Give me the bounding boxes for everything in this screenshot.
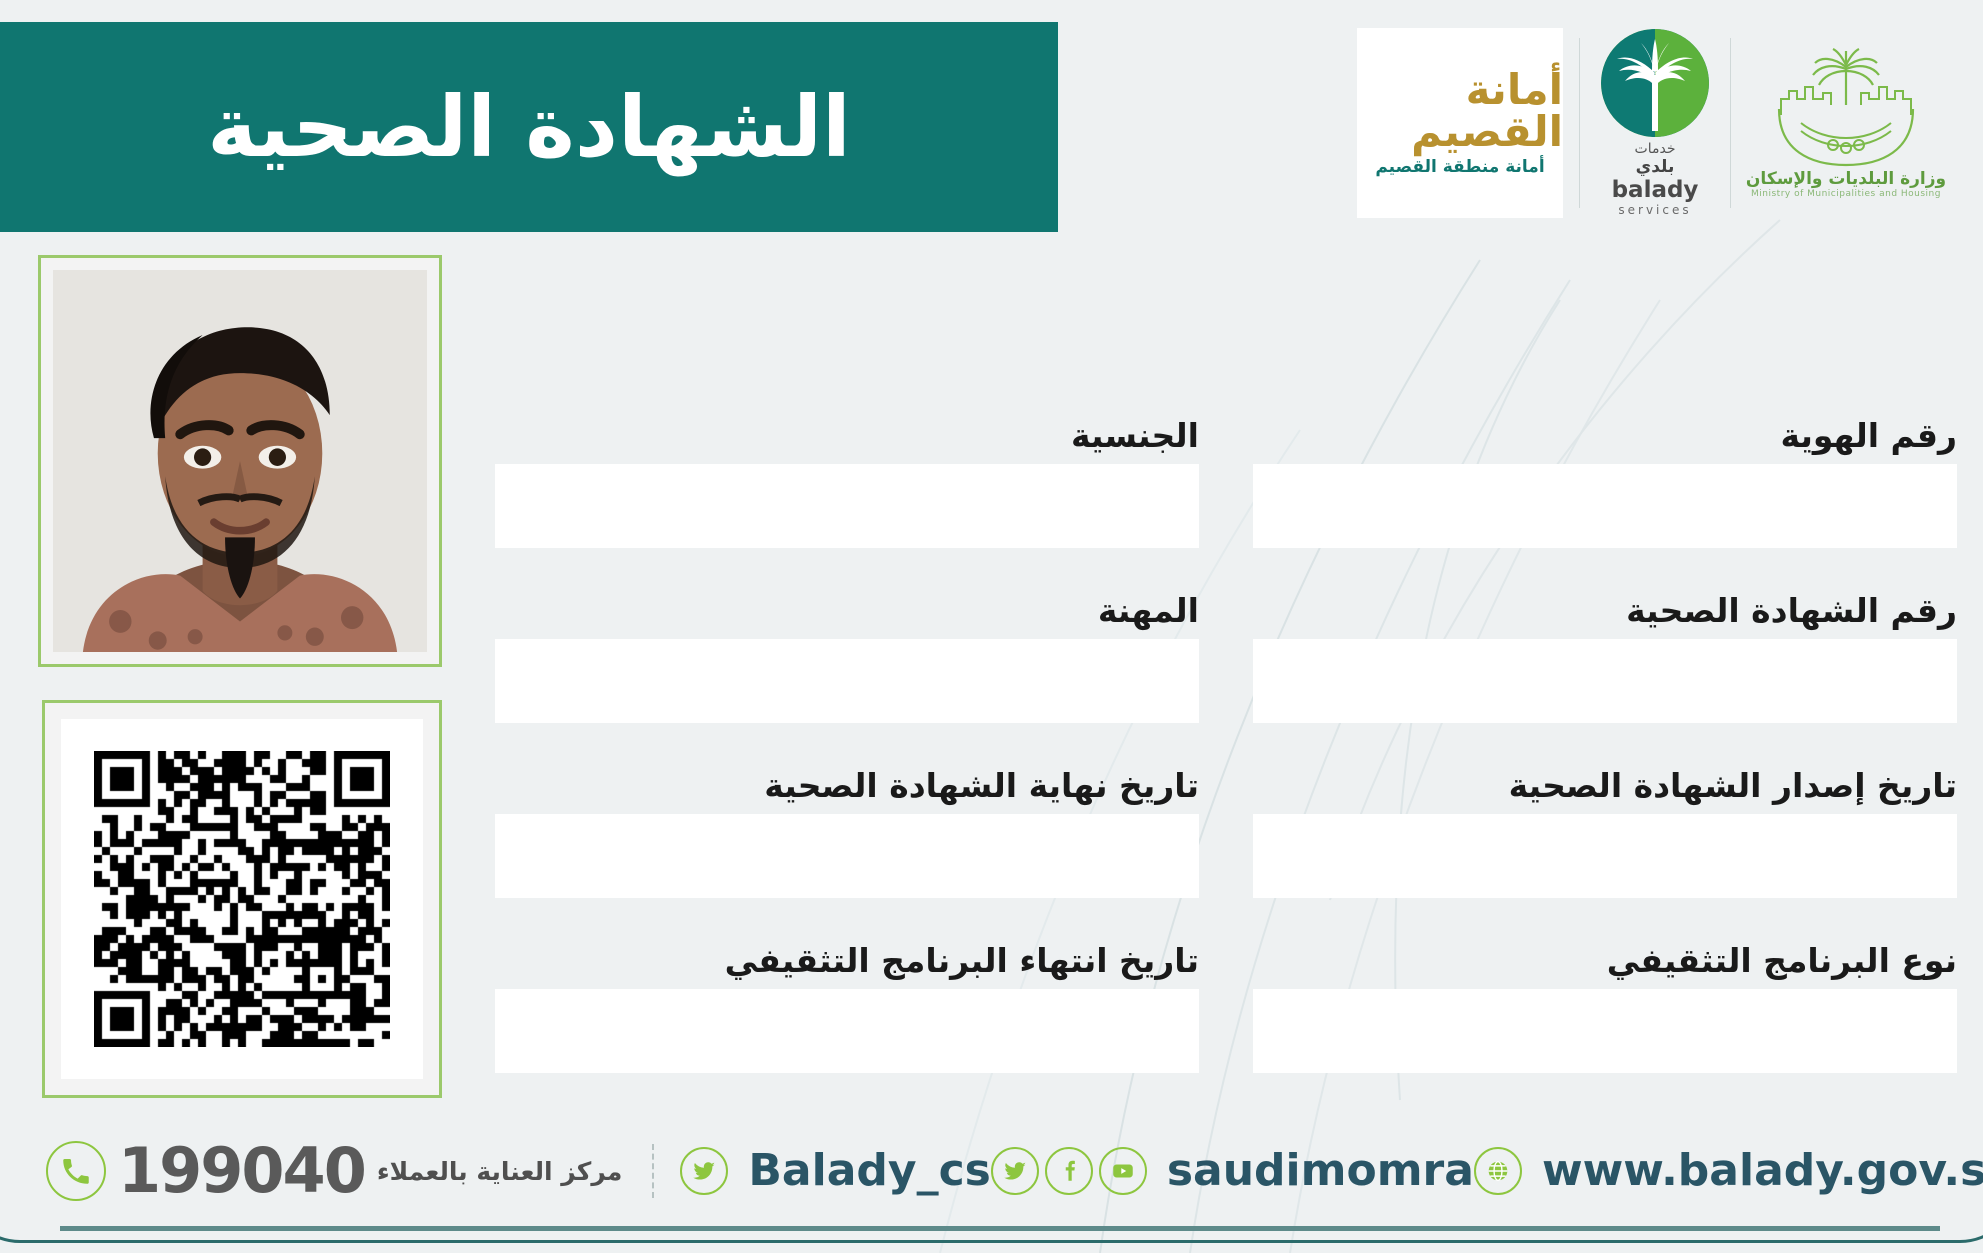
ministry-logo-icon bbox=[1771, 47, 1921, 167]
balady-arabic-top: خدمات bbox=[1635, 141, 1676, 157]
social-icons[interactable] bbox=[991, 1147, 1147, 1195]
footer-separator-1 bbox=[652, 1144, 654, 1198]
field-value-educational-program-type[interactable] bbox=[1253, 989, 1957, 1073]
footer-social-group[interactable]: saudimomra bbox=[991, 1147, 1474, 1195]
balady-english-sub: services bbox=[1618, 203, 1691, 217]
field-occupation: المهنة bbox=[495, 593, 1199, 768]
field-nationality: الجنسية bbox=[495, 418, 1199, 593]
field-certificate-issue-date: تاريخ إصدار الشهادة الصحية bbox=[1253, 768, 1957, 943]
qr-code[interactable] bbox=[61, 719, 423, 1079]
globe-icon[interactable] bbox=[1474, 1147, 1522, 1195]
field-certificate-end-date: تاريخ نهاية الشهادة الصحية bbox=[495, 768, 1199, 943]
twitter-icon[interactable] bbox=[680, 1147, 728, 1195]
qassim-logo-tile: أمانة القصيم أمانة منطقة القصيم bbox=[1357, 28, 1563, 218]
customer-care-label: مركز العناية بالعملاء bbox=[377, 1157, 623, 1186]
holder-photo bbox=[53, 270, 427, 652]
field-value-certificate-issue-date[interactable] bbox=[1253, 814, 1957, 898]
field-value-nationality[interactable] bbox=[495, 464, 1199, 548]
field-label-occupation: المهنة bbox=[495, 593, 1199, 639]
field-educational-program-end-date: تاريخ انتهاء البرنامج التثقيفي bbox=[495, 943, 1199, 1118]
balady-logo: خدمات بلدي balady services bbox=[1580, 23, 1730, 223]
field-value-certificate-end-date[interactable] bbox=[495, 814, 1199, 898]
balady-arabic-main: بلدي bbox=[1636, 157, 1675, 177]
phone-icon bbox=[46, 1141, 106, 1201]
website-url[interactable]: www.balady.gov.sa bbox=[1542, 1149, 1983, 1193]
field-label-educational-program-type: نوع البرنامج التثقيفي bbox=[1253, 943, 1957, 989]
logo-divider-2 bbox=[1579, 38, 1580, 208]
field-label-educational-program-end-date: تاريخ انتهاء البرنامج التثقيفي bbox=[495, 943, 1199, 989]
footer: 199040 مركز العناية بالعملاء Balady_cs bbox=[0, 1123, 1983, 1219]
field-label-nationality: الجنسية bbox=[495, 418, 1199, 464]
logo-strip: وزارة البلديات والإسكان Ministry of Muni… bbox=[1341, 18, 1961, 228]
footer-divider-rule bbox=[60, 1226, 1940, 1231]
field-value-occupation[interactable] bbox=[495, 639, 1199, 723]
field-label-id-number: رقم الهوية bbox=[1253, 418, 1957, 464]
twitter-icon[interactable] bbox=[991, 1147, 1039, 1195]
health-certificate-card: الشهادة الصحية bbox=[0, 0, 1983, 1253]
field-id-number: رقم الهوية bbox=[1253, 418, 1957, 593]
field-label-health-certificate-number: رقم الشهادة الصحية bbox=[1253, 593, 1957, 639]
footer-twitter-group[interactable]: Balady_cs bbox=[680, 1147, 990, 1195]
page-title: الشهادة الصحية bbox=[207, 85, 851, 169]
footer-phone-group[interactable]: 199040 مركز العناية بالعملاء bbox=[46, 1140, 626, 1202]
facebook-icon[interactable] bbox=[1045, 1147, 1093, 1195]
field-label-certificate-issue-date: تاريخ إصدار الشهادة الصحية bbox=[1253, 768, 1957, 814]
qr-code-frame[interactable] bbox=[42, 700, 442, 1098]
qassim-logo: أمانة القصيم أمانة منطقة القصيم bbox=[1341, 23, 1579, 223]
field-value-id-number[interactable] bbox=[1253, 464, 1957, 548]
qassim-logo-caption: أمانة منطقة القصيم bbox=[1375, 157, 1544, 177]
field-value-health-certificate-number[interactable] bbox=[1253, 639, 1957, 723]
field-educational-program-type: نوع البرنامج التثقيفي bbox=[1253, 943, 1957, 1118]
balady-english-main: balady bbox=[1612, 177, 1699, 203]
logo-divider-1 bbox=[1730, 38, 1731, 208]
balady-palm-icon bbox=[1601, 29, 1709, 137]
ministry-logo-arabic: وزارة البلديات والإسكان bbox=[1746, 169, 1946, 189]
field-health-certificate-number: رقم الشهادة الصحية bbox=[1253, 593, 1957, 768]
twitter-handle[interactable]: Balady_cs bbox=[748, 1149, 990, 1193]
phone-number: 199040 bbox=[118, 1140, 365, 1202]
header-banner: الشهادة الصحية bbox=[0, 22, 1058, 232]
holder-photo-frame bbox=[38, 255, 442, 667]
field-value-educational-program-end-date[interactable] bbox=[495, 989, 1199, 1073]
ministry-logo-english: Ministry of Municipalities and Housing bbox=[1751, 189, 1941, 199]
ministry-logo: وزارة البلديات والإسكان Ministry of Muni… bbox=[1731, 23, 1961, 223]
footer-website-group[interactable]: www.balady.gov.sa bbox=[1474, 1147, 1983, 1195]
youtube-icon[interactable] bbox=[1099, 1147, 1147, 1195]
field-label-certificate-end-date: تاريخ نهاية الشهادة الصحية bbox=[495, 768, 1199, 814]
certificate-fields-grid: رقم الهوية الجنسية رقم الشهادة الصحية ال… bbox=[495, 418, 1957, 1118]
qassim-logo-arabic-mark: أمانة القصيم bbox=[1357, 69, 1563, 153]
social-handle[interactable]: saudimomra bbox=[1167, 1149, 1474, 1193]
